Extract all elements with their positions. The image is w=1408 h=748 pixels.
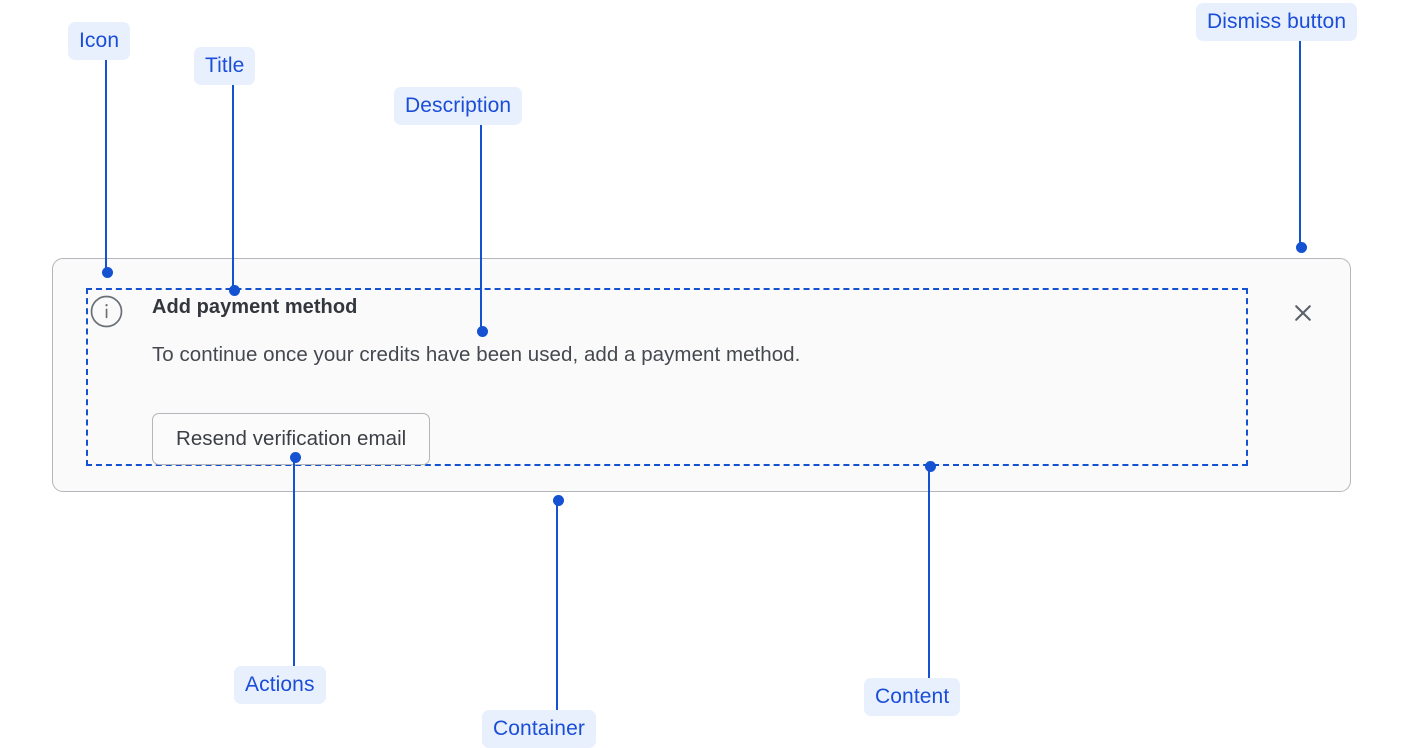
info-circle-icon [90, 295, 123, 328]
annotated-screenshot-canvas: Add payment method To continue once your… [0, 0, 1408, 748]
annotation-label-actions: Actions [234, 666, 326, 704]
annotation-leader-line-actions [293, 457, 295, 666]
close-icon [1291, 301, 1315, 328]
alert-content-region: Add payment method To continue once your… [86, 288, 1248, 466]
annotation-leader-line-dismiss-button [1299, 39, 1301, 247]
annotation-label-container: Container [482, 710, 596, 748]
annotation-anchor-dot-actions [290, 452, 301, 463]
annotation-anchor-dot-content [925, 461, 936, 472]
alert-description: To continue once your credits have been … [152, 343, 800, 367]
annotation-label-title: Title [194, 47, 255, 85]
annotation-label-dismiss-button: Dismiss button [1196, 3, 1357, 41]
annotation-leader-line-icon [105, 58, 107, 272]
alert-container: Add payment method To continue once your… [52, 258, 1351, 492]
annotation-label-icon: Icon [68, 22, 130, 60]
annotation-anchor-dot-title [229, 285, 240, 296]
alert-title: Add payment method [152, 296, 357, 319]
annotation-anchor-dot-container [553, 495, 564, 506]
annotation-anchor-dot-dismiss-button [1296, 242, 1307, 253]
annotation-leader-line-title [232, 83, 234, 290]
annotation-label-content: Content [864, 678, 960, 716]
dismiss-button[interactable] [1284, 295, 1322, 333]
annotation-anchor-dot-description [477, 326, 488, 337]
annotation-anchor-dot-icon [102, 267, 113, 278]
annotation-leader-line-description [480, 123, 482, 331]
annotation-leader-line-container [556, 500, 558, 710]
annotation-leader-line-content [928, 466, 930, 678]
annotation-label-description: Description [394, 87, 522, 125]
